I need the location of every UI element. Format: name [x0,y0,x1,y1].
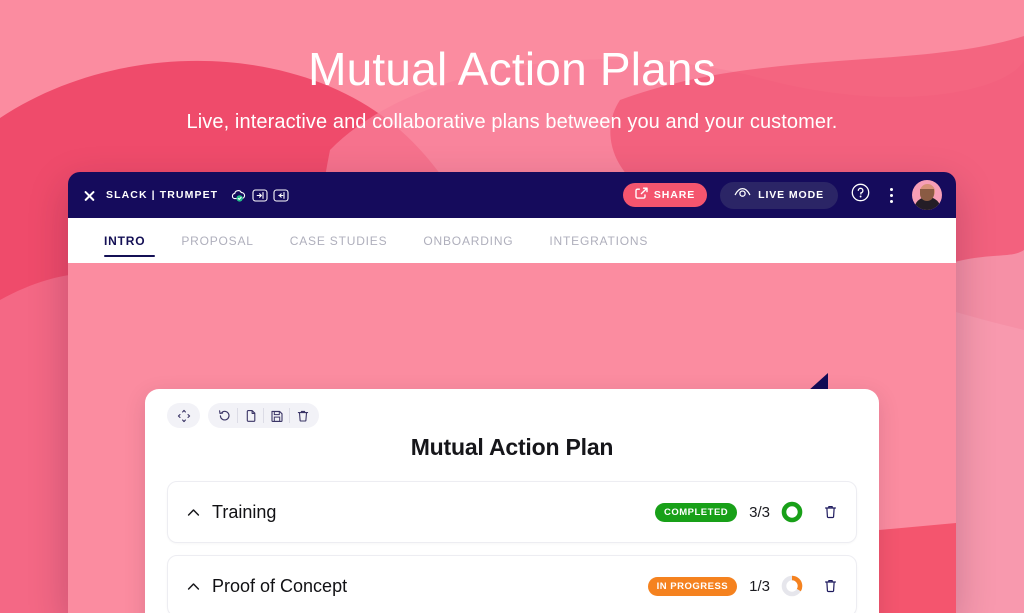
header-right-group: SHARE LIVE MODE [623,180,942,210]
app-header: SLACK | TRUMPET [68,172,956,218]
progress-donut [781,501,803,523]
table-row[interactable]: Proof of Concept IN PROGRESS 1/3 [167,555,857,613]
cloud-saved-icon[interactable] [230,188,247,203]
move-handle-pill [167,403,200,428]
header-icon-group [230,188,289,203]
status-badge: COMPLETED [655,503,737,522]
hero-subtitle: Live, interactive and collaborative plan… [0,111,1024,134]
more-options-icon[interactable] [883,186,899,204]
row-title: Proof of Concept [212,576,347,597]
plan-rows: Training COMPLETED 3/3 [167,481,857,613]
plan-canvas: Mutual Action Plan Training COMPLETED 3/… [68,263,956,613]
share-button[interactable]: SHARE [623,183,707,207]
revert-icon[interactable] [212,403,237,428]
app-window: SLACK | TRUMPET [68,172,956,613]
duplicate-icon[interactable] [238,403,263,428]
help-icon[interactable] [851,183,870,207]
share-icon [635,187,648,203]
mutual-action-plan-card: Mutual Action Plan Training COMPLETED 3/… [145,389,879,613]
tab-integrations[interactable]: INTEGRATIONS [531,218,666,263]
tab-case-studies[interactable]: CASE STUDIES [272,218,406,263]
tab-proposal[interactable]: PROPOSAL [163,218,271,263]
delete-row-button[interactable] [823,504,838,520]
row-title: Training [212,502,276,523]
share-button-label: SHARE [654,189,695,201]
table-row[interactable]: Training COMPLETED 3/3 [167,481,857,543]
user-avatar[interactable] [912,180,942,210]
card-toolbar [167,403,857,428]
progress-donut [781,575,803,597]
tab-intro[interactable]: INTRO [94,218,163,263]
chevron-up-icon[interactable] [182,501,204,523]
save-icon[interactable] [264,403,289,428]
eye-icon [734,187,751,203]
delete-icon[interactable] [290,403,315,428]
tab-onboarding[interactable]: ONBOARDING [405,218,531,263]
move-icon[interactable] [171,403,196,428]
hero-section: Mutual Action Plans Live, interactive an… [0,0,1024,134]
header-left-group: SLACK | TRUMPET [82,188,289,203]
row-count: 3/3 [749,504,770,521]
hero-title: Mutual Action Plans [0,44,1024,95]
panel-left-icon[interactable] [252,188,268,203]
close-icon[interactable] [82,188,97,203]
live-mode-label: LIVE MODE [758,189,824,201]
deal-name-label: SLACK | TRUMPET [106,189,218,201]
chevron-up-icon[interactable] [182,575,204,597]
live-mode-button[interactable]: LIVE MODE [720,182,838,209]
tab-bar: INTRO PROPOSAL CASE STUDIES ONBOARDING I… [68,218,956,263]
panel-right-icon[interactable] [273,188,289,203]
card-title: Mutual Action Plan [167,434,857,461]
page-root: Mutual Action Plans Live, interactive an… [0,0,1024,613]
row-count: 1/3 [749,578,770,595]
delete-row-button[interactable] [823,578,838,594]
card-actions-pill [208,403,319,428]
status-badge: IN PROGRESS [648,577,738,596]
